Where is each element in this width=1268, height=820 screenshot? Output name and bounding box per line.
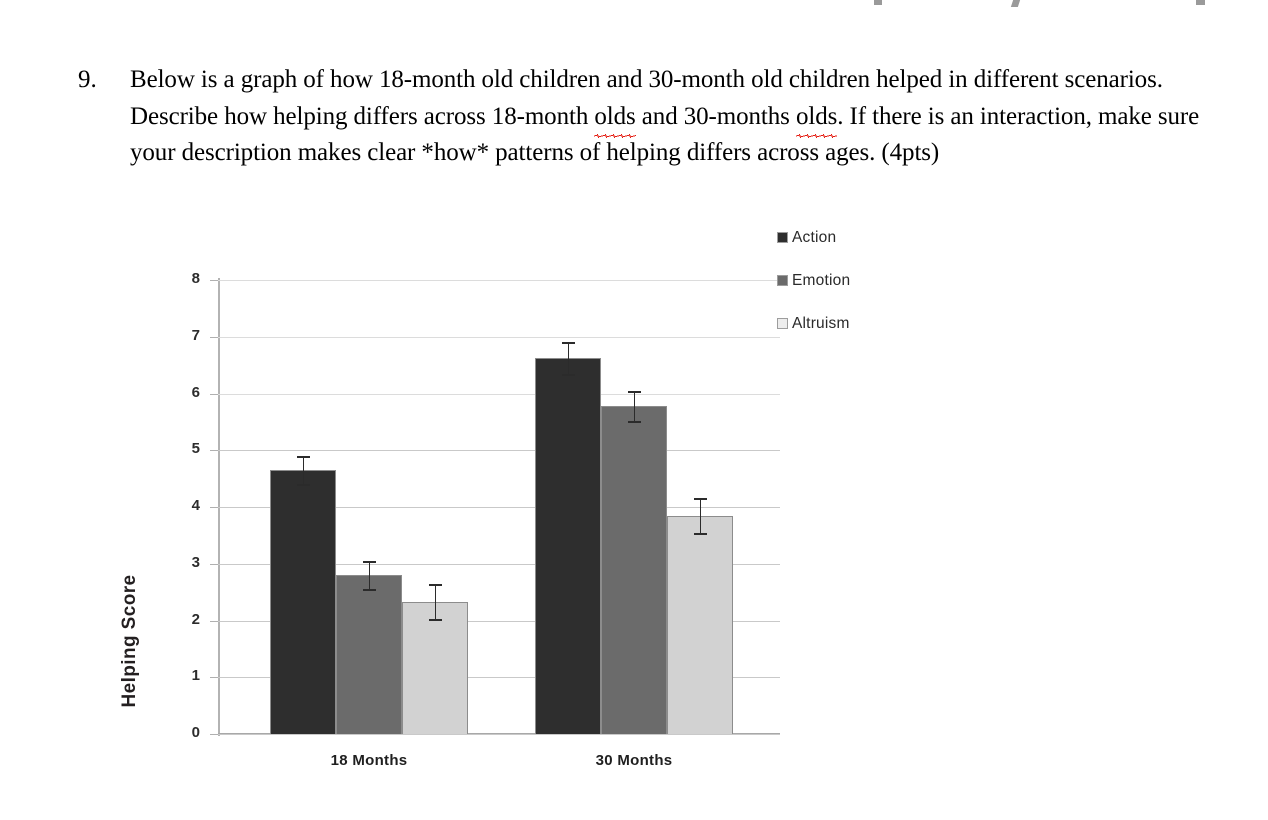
legend-item-action[interactable]: Action	[777, 216, 927, 259]
y-axis-tick	[210, 394, 218, 395]
error-bar-cap-top	[694, 498, 707, 500]
y-axis-tick-labels: 876543210	[150, 252, 200, 772]
error-bar-cap-top	[429, 584, 442, 586]
question-number: 9.	[78, 62, 130, 99]
legend-swatch-icon	[777, 275, 788, 286]
y-axis-tick-label: 2	[160, 611, 200, 628]
y-axis-title: Helping Score	[119, 546, 141, 736]
bar-emotion-18mo	[336, 575, 402, 734]
error-bar-cap-top	[297, 456, 310, 458]
error-bar-line	[369, 561, 370, 589]
error-bar-line	[700, 498, 701, 532]
legend-item-altruism[interactable]: Altruism	[777, 302, 927, 345]
y-axis-tick	[210, 507, 218, 508]
question-text-run: and 30-months	[636, 103, 796, 130]
y-axis-tick	[210, 677, 218, 678]
legend-label: Emotion	[792, 272, 850, 290]
y-axis-tick	[210, 280, 218, 281]
error-bar-line	[634, 391, 635, 422]
y-axis-tick-label: 3	[160, 554, 200, 571]
crop-mark	[1196, 0, 1205, 5]
spellcheck-underlined-word: olds	[594, 99, 635, 136]
y-axis-tick	[210, 564, 218, 565]
error-bar-cap-top	[363, 561, 376, 563]
y-axis-tick	[210, 621, 218, 622]
error-bar-cap-bottom	[363, 589, 376, 591]
bar-emotion-30mo	[601, 406, 667, 734]
error-bar-cap-bottom	[628, 421, 641, 423]
y-axis-tick	[210, 450, 218, 451]
spellcheck-underlined-word: olds	[796, 99, 837, 136]
error-bar-line	[435, 584, 436, 619]
legend-swatch-icon	[777, 318, 788, 329]
y-axis-tick-label: 7	[160, 327, 200, 344]
y-axis-tick	[210, 337, 218, 338]
error-bar-cap-bottom	[562, 374, 575, 376]
error-bar-cap-top	[628, 391, 641, 393]
bar-action-18mo	[270, 470, 336, 734]
gridline	[218, 450, 780, 451]
y-axis-tick-label: 1	[160, 667, 200, 684]
plot-area	[218, 280, 780, 734]
crop-mark	[1011, 0, 1020, 7]
gridline	[218, 280, 780, 281]
y-axis-tick-label: 6	[160, 384, 200, 401]
error-bar-line	[568, 342, 569, 374]
chart-legend: ActionEmotionAltruism	[777, 216, 927, 345]
legend-label: Altruism	[792, 315, 850, 333]
page-crop-artifacts	[0, 0, 1268, 14]
y-axis-tick	[210, 734, 218, 735]
error-bar-cap-bottom	[297, 484, 310, 486]
y-axis-tick-label: 5	[160, 440, 200, 457]
legend-swatch-icon	[777, 232, 788, 243]
y-axis-tick-label: 4	[160, 497, 200, 514]
y-axis-tick-label: 8	[160, 270, 200, 287]
legend-label: Action	[792, 229, 836, 247]
x-axis-category-label: 30 Months	[554, 752, 714, 769]
gridline	[218, 394, 780, 395]
error-bar-cap-top	[562, 342, 575, 344]
question-text: Below is a graph of how 18-month old chi…	[130, 62, 1208, 172]
legend-item-emotion[interactable]: Emotion	[777, 259, 927, 302]
gridline	[218, 337, 780, 338]
bar-altruism-18mo	[402, 602, 468, 734]
crop-mark	[874, 0, 882, 5]
error-bar-cap-bottom	[694, 533, 707, 535]
gridline	[218, 734, 780, 735]
error-bar-cap-bottom	[429, 619, 442, 621]
question-block: 9. Below is a graph of how 18-month old …	[78, 62, 1208, 172]
bar-action-30mo	[535, 358, 601, 734]
error-bar-line	[303, 456, 304, 484]
bar-altruism-30mo	[667, 516, 733, 734]
x-axis-category-label: 18 Months	[289, 752, 449, 769]
y-axis-tick-label: 0	[160, 724, 200, 741]
